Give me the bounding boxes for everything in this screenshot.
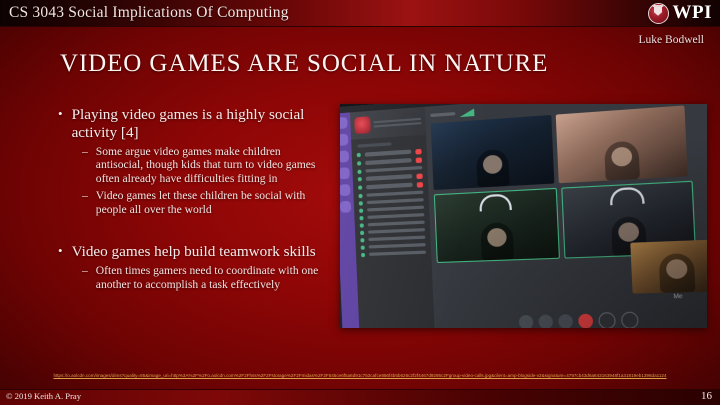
server-icon (340, 184, 351, 196)
status-dot-icon (359, 201, 363, 205)
badge-icon (415, 148, 421, 154)
sub-bullet-marker-icon: – (82, 189, 88, 217)
slide-body: • Playing video games is a highly social… (58, 106, 348, 292)
sub-bullet-text: Often times gamers need to coordinate wi… (96, 264, 326, 292)
headset-icon (609, 187, 644, 206)
video-camera-icon[interactable] (519, 315, 534, 328)
bullet-text: Video games help build teamwork skills (72, 243, 316, 261)
call-controls (434, 310, 707, 328)
participant-grid: Inakzb Efriends Akm (431, 104, 707, 263)
settings-icon[interactable] (598, 312, 616, 328)
server-icon (340, 150, 349, 162)
headset-icon (478, 194, 511, 212)
server-icon (340, 201, 351, 213)
server-icon (340, 134, 348, 146)
wpi-logo-text: WPI (673, 2, 713, 24)
server-name-placeholder (373, 116, 421, 130)
status-dot-icon (357, 153, 361, 157)
discord-call-image: Inakzb Efriends Akm (340, 104, 707, 328)
section-header (357, 142, 391, 147)
copyright-text: © 2019 Keith A. Pray (6, 391, 81, 401)
discord-window: Inakzb Efriends Akm (340, 104, 707, 328)
self-view[interactable]: Me (630, 239, 707, 301)
wpi-logo: WPI (648, 2, 713, 24)
hang-up-icon[interactable] (578, 314, 593, 328)
status-dot-icon (357, 161, 361, 165)
member-row (356, 248, 431, 258)
status-dot-icon (359, 215, 363, 219)
self-video-tile[interactable] (630, 239, 707, 293)
status-dot-icon (357, 169, 361, 173)
wpi-seal-icon (648, 3, 669, 24)
avatar (659, 253, 696, 293)
call-stage: Inakzb Efriends Akm (425, 104, 707, 328)
page-number: 16 (701, 390, 712, 402)
bullet-marker-icon: • (58, 243, 63, 261)
status-dot-icon (361, 252, 365, 256)
course-title: CS 3043 Social Implications Of Computing (0, 4, 289, 22)
member-name (366, 174, 413, 180)
sub-bullet-text: Video games let these children be social… (96, 189, 326, 217)
sub-bullet-marker-icon: – (82, 264, 88, 292)
author-name: Luke Bodwell (639, 34, 704, 46)
sub-bullet-text: Some argue video games make children ant… (96, 145, 326, 187)
member-name (369, 250, 426, 256)
avatar (480, 222, 514, 260)
slide-footer-bar: © 2019 Keith A. Pray 16 (0, 389, 720, 405)
participant-tile[interactable]: Inakzb (431, 115, 555, 190)
status-dot-icon (360, 230, 364, 234)
bullet-spacer (58, 217, 348, 243)
channel-sidebar (350, 107, 435, 328)
slide: CS 3043 Social Implications Of Computing… (0, 0, 720, 405)
server-logo-icon (354, 116, 371, 134)
status-dot-icon (358, 185, 362, 189)
avatar (475, 149, 509, 188)
bullet-text: Playing video games is a highly social a… (72, 106, 330, 142)
sub-bullet-item: – Video games let these children be soci… (82, 189, 348, 217)
member-name (366, 183, 413, 189)
status-dot-icon (359, 208, 363, 212)
bullet-item: • Playing video games is a highly social… (58, 106, 348, 142)
page-title: VIDEO GAMES ARE SOCIAL IN NATURE (60, 50, 548, 78)
slide-header-bar: CS 3043 Social Implications Of Computing… (0, 0, 720, 27)
source-url-link[interactable]: https://o.aolcdn.com/images/dims?quality… (36, 372, 684, 380)
image-perspective-wrapper: Inakzb Efriends Akm (340, 104, 707, 328)
microphone-icon[interactable] (558, 314, 573, 328)
participant-tile[interactable]: Efriends (556, 105, 688, 183)
chat-icon[interactable] (621, 312, 639, 328)
status-dot-icon (358, 177, 362, 181)
sub-bullet-item: – Some argue video games make children a… (82, 145, 348, 187)
server-icon (340, 167, 350, 179)
bullet-item: • Video games help build teamwork skills (58, 243, 348, 261)
sub-bullet-item: – Often times gamers need to coordinate … (82, 264, 348, 292)
signal-strength-icon (459, 108, 474, 117)
status-dot-icon (360, 238, 364, 242)
status-dot-icon (358, 193, 362, 197)
status-dot-icon (360, 223, 364, 227)
screen-share-icon[interactable] (538, 315, 553, 328)
server-icon (340, 117, 348, 129)
self-name-label: Me (633, 292, 707, 301)
badge-icon (416, 157, 422, 163)
server-banner (350, 107, 426, 140)
status-dot-icon (361, 245, 365, 249)
badge-icon (417, 181, 423, 187)
sub-bullet-marker-icon: – (82, 145, 88, 187)
avatar (603, 140, 639, 180)
status-label (430, 112, 455, 117)
participant-tile[interactable]: Akm (434, 188, 560, 263)
bullet-marker-icon: • (58, 106, 63, 142)
badge-icon (416, 173, 422, 179)
